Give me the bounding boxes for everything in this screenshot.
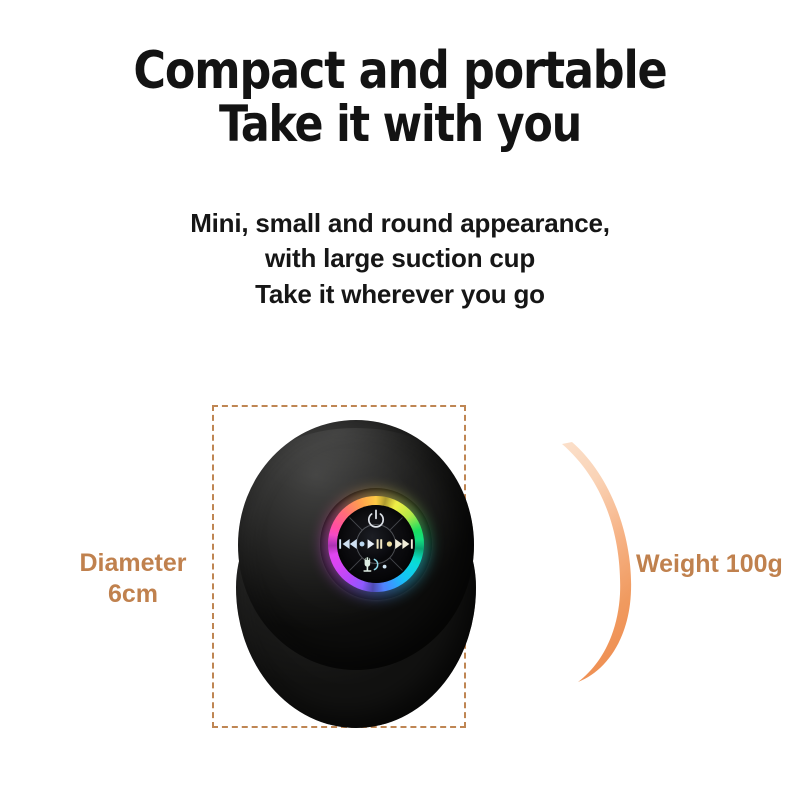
subtitle-line-3: Take it wherever you go: [0, 277, 800, 312]
next-track-button[interactable]: [394, 535, 414, 553]
led-indicator-dot: [383, 565, 387, 569]
subtitle-line-1: Mini, small and round appearance,: [0, 206, 800, 241]
next-track-icon: [394, 535, 414, 553]
diameter-callout: Diameter 6cm: [58, 548, 208, 609]
headline-line-1: Compact and portable: [20, 44, 780, 98]
page-subtitle: Mini, small and round appearance, with l…: [0, 206, 800, 312]
page-title: Compact and portable Take it with you: [20, 44, 780, 150]
play-pause-volume-cluster[interactable]: [359, 537, 393, 551]
microphone-icon: [360, 556, 392, 576]
subtitle-line-2: with large suction cup: [0, 241, 800, 276]
weight-callout: Weight 100g: [636, 550, 783, 579]
handsfree-call-button[interactable]: [360, 556, 392, 576]
weight-arc-marker: [556, 436, 640, 686]
headline-line-2: Take it with you: [20, 98, 780, 150]
previous-track-button[interactable]: [338, 535, 358, 553]
diameter-label: Diameter: [58, 548, 208, 579]
bluetooth-speaker-product: [236, 420, 476, 728]
power-icon: [364, 507, 388, 531]
diameter-value: 6cm: [58, 579, 208, 610]
play-pause-icon: [359, 537, 393, 551]
product-marketing-image: Compact and portable Take it with you Mi…: [0, 0, 800, 800]
previous-track-icon: [338, 535, 358, 553]
power-button[interactable]: [364, 507, 388, 531]
control-panel: [337, 505, 415, 583]
